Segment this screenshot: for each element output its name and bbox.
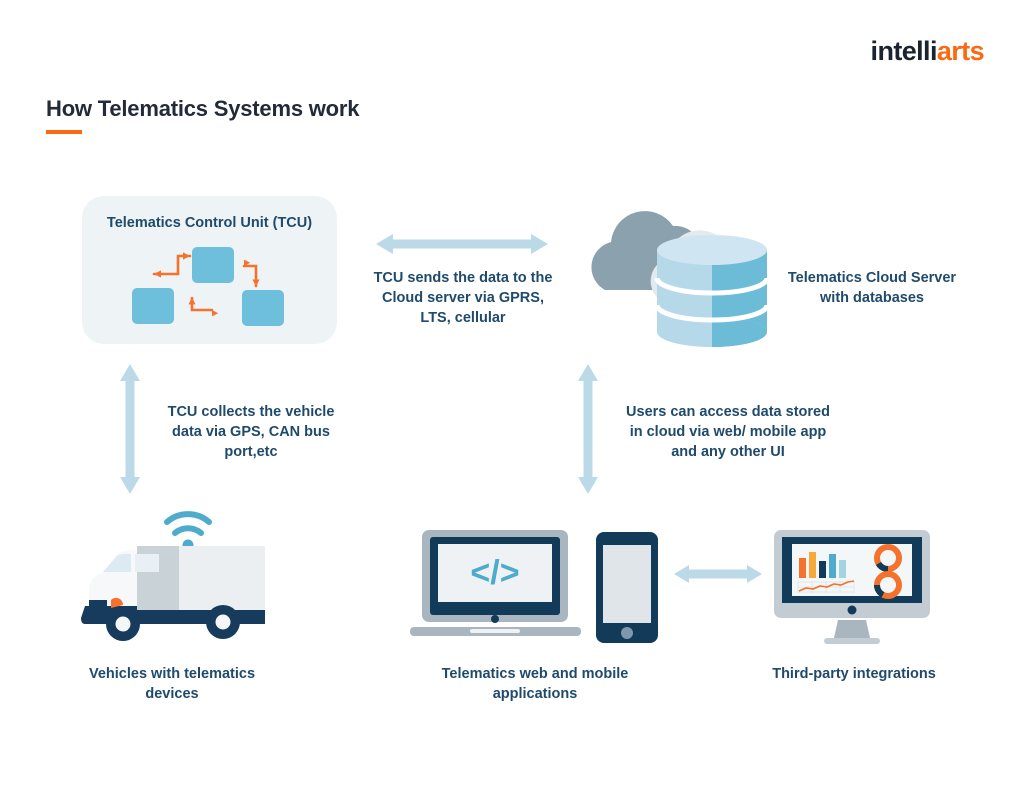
vehicles-caption: Vehicles with telematics devices [62, 664, 282, 704]
mobile-phone-icon [594, 530, 660, 645]
tcu-blocks-icon [118, 246, 303, 326]
code-glyph: </> [470, 554, 519, 592]
title-accent-rule [46, 130, 82, 134]
laptop-code-icon: </> [408, 528, 583, 640]
tcu-cloud-connection-label: TCU sends the data to the Cloud server v… [368, 268, 558, 328]
integrations-caption: Third-party integrations [744, 664, 964, 684]
delivery-truck-icon [75, 498, 280, 648]
apps-caption: Telematics web and mobile applications [425, 664, 645, 704]
wifi-signal-icon [167, 514, 209, 533]
double-arrow-horizontal-icon-apps-integrations [672, 562, 764, 586]
double-arrow-vertical-icon-cloud-apps [576, 362, 600, 496]
cloud-database-icon [575, 202, 790, 350]
logo-text-primary: intelli [871, 36, 937, 66]
cloud-caption: Telematics Cloud Server with databases [782, 268, 962, 308]
tcu-card: Telematics Control Unit (TCU) [82, 196, 337, 344]
cloud-apps-connection-label: Users can access data stored in cloud vi… [618, 402, 838, 462]
page-title: How Telematics Systems work [46, 96, 359, 122]
double-arrow-vertical-icon-vehicle-tcu [118, 362, 142, 496]
vehicle-tcu-connection-label: TCU collects the vehicle data via GPS, C… [158, 402, 344, 462]
logo-text-accent: arts [937, 36, 984, 66]
tcu-title: Telematics Control Unit (TCU) [82, 215, 337, 231]
diagram-canvas: intelliarts How Telematics Systems work … [0, 0, 1024, 800]
desktop-dashboard-icon [772, 528, 932, 646]
double-arrow-horizontal-icon-tcu-cloud [374, 232, 550, 256]
intelliarts-logo: intelliarts [871, 38, 984, 65]
